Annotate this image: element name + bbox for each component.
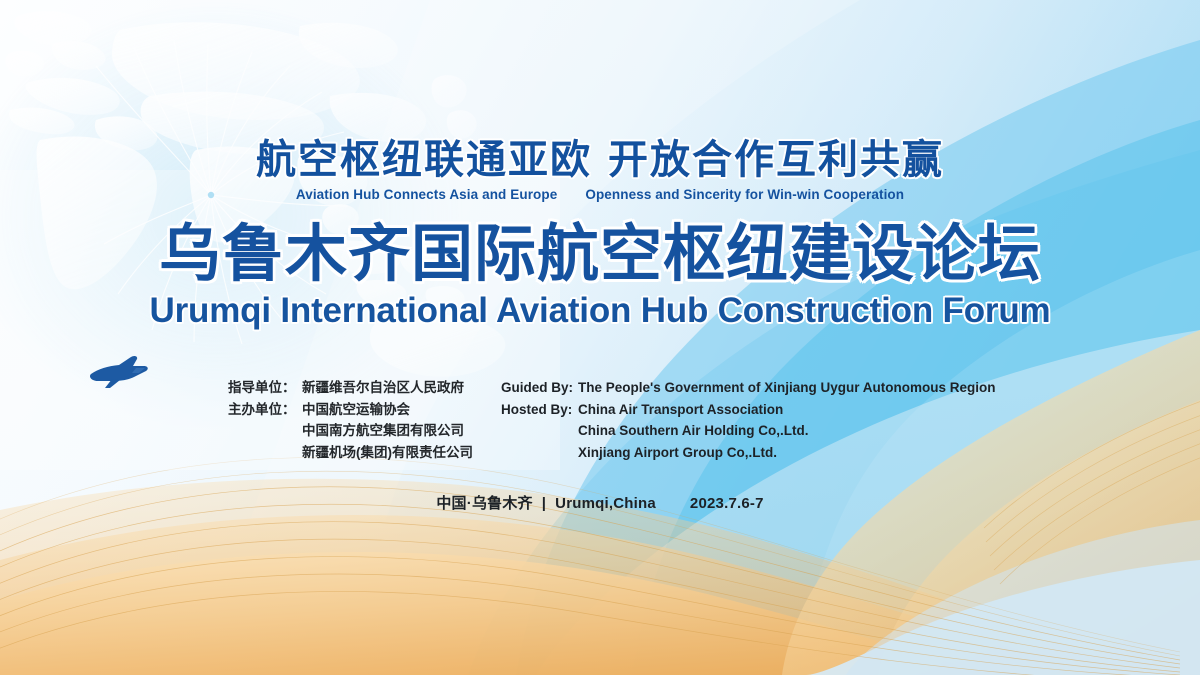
location-english: Urumqi,China — [555, 495, 656, 512]
conference-banner: 航空枢纽联通亚欧开放合作互利共赢 Aviation Hub Connects A… — [0, 0, 1200, 675]
tagline-block: 航空枢纽联通亚欧开放合作互利共赢 Aviation Hub Connects A… — [0, 138, 1200, 202]
hosted-value-en-1: China Southern Air Holding Co,.Ltd. — [501, 420, 1021, 442]
hosted-row-en: Hosted By: China Air Transport Associati… — [501, 399, 1021, 421]
airplane-icon — [88, 355, 150, 389]
tagline-en-right: Openness and Sincerity for Win-win Coope… — [585, 187, 904, 202]
guided-value-en: The People's Government of Xinjiang Uygu… — [578, 377, 996, 399]
hosted-value-cn-2: 新疆机场(集团)有限责任公司 — [228, 442, 508, 464]
tagline-cn-right: 开放合作互利共赢 — [608, 138, 944, 182]
hosted-value-cn-1: 中国南方航空集团有限公司 — [228, 420, 508, 442]
event-date: 2023.7.6-7 — [690, 495, 764, 512]
guided-label-cn: 指导单位： — [228, 377, 302, 399]
footer-separator: | — [542, 495, 546, 512]
guided-row-en: Guided By: The People's Government of Xi… — [501, 377, 1021, 399]
organizers-chinese: 指导单位： 新疆维吾尔自治区人民政府 主办单位： 中国航空运输协会 中国南方航空… — [228, 377, 508, 463]
guided-row-cn: 指导单位： 新疆维吾尔自治区人民政府 — [228, 377, 508, 399]
tagline-en-left: Aviation Hub Connects Asia and Europe — [296, 187, 557, 202]
hosted-value-en-2: Xinjiang Airport Group Co,.Ltd. — [501, 442, 1021, 464]
tagline-cn-left: 航空枢纽联通亚欧 — [256, 138, 592, 182]
hosted-value-en-0: China Air Transport Association — [578, 399, 783, 421]
title-chinese: 乌鲁木齐国际航空枢纽建设论坛 — [0, 222, 1200, 289]
title-english: Urumqi International Aviation Hub Constr… — [0, 291, 1200, 331]
hosted-value-cn-0: 中国航空运输协会 — [302, 399, 410, 421]
guided-label-en: Guided By: — [501, 377, 578, 399]
hosted-label-cn: 主办单位： — [228, 399, 302, 421]
footer-line: 中国·乌鲁木齐|Urumqi,China2023.7.6-7 — [0, 492, 1200, 513]
hosted-row-cn: 主办单位： 中国航空运输协会 — [228, 399, 508, 421]
organizers-english: Guided By: The People's Government of Xi… — [501, 377, 1021, 463]
tagline-chinese: 航空枢纽联通亚欧开放合作互利共赢 — [0, 138, 1200, 183]
hosted-label-en: Hosted By: — [501, 399, 578, 421]
main-title-block: 乌鲁木齐国际航空枢纽建设论坛 Urumqi International Avia… — [0, 222, 1200, 331]
location-chinese: 中国·乌鲁木齐 — [436, 495, 532, 512]
tagline-english: Aviation Hub Connects Asia and EuropeOpe… — [0, 187, 1200, 202]
guided-value-cn: 新疆维吾尔自治区人民政府 — [302, 377, 464, 399]
